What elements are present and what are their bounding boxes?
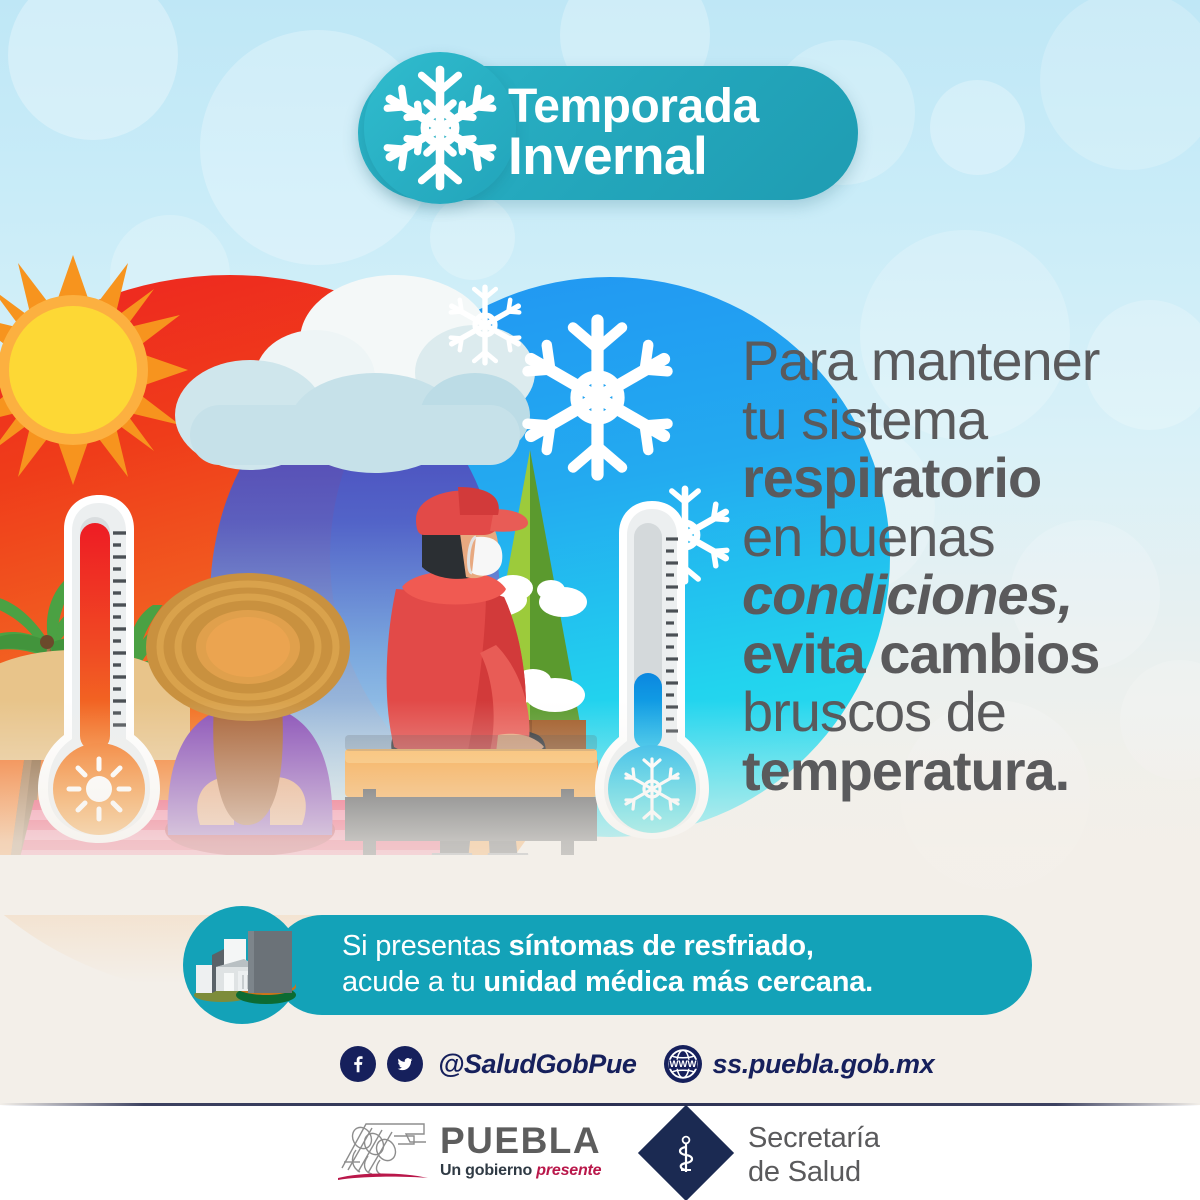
salud-line2: de Salud [748,1155,880,1189]
header-title: Temporada Invernal [508,68,848,198]
social-handle[interactable]: @SaludGobPue [438,1049,637,1080]
banner-line1-bold: síntomas de resfriado, [509,930,814,962]
banner-line2: acude a tu unidad médica más cercana. [342,965,1042,1001]
main-message-line: en buenas [742,508,1182,567]
puebla-wordmark: PUEBLA Un gobierno presente [440,1122,601,1179]
snowflake-icon [374,62,506,194]
puebla-emblem-icon [336,1118,434,1186]
banner-text: Si presentas síntomas de resfriado, acud… [342,924,1042,1006]
main-message-line: tu sistema [742,391,1182,450]
banner-line1-regular: Si presentas [342,930,509,962]
puebla-tagline-accent: presente [536,1162,601,1179]
asclepius-rod-icon [668,1135,704,1175]
social-row: @SaludGobPue WWW ss.puebla.gob.mx [340,1040,880,1088]
main-message-line: temperatura. [742,742,1182,801]
hospital-icon [192,925,296,1007]
main-message-line: condiciones, [742,566,1182,625]
facebook-icon[interactable] [340,1046,376,1082]
salud-logo: Secretaría de Salud [652,1115,902,1191]
www-globe-icon[interactable]: WWW [664,1045,702,1083]
main-message-line: bruscos de [742,683,1182,742]
main-message-line: evita cambios [742,625,1182,684]
header-title-line2: Invernal [508,131,848,183]
header-title-line1: Temporada [508,83,848,131]
main-message: Para mantener tu sistema respiratorio en… [742,332,1182,800]
puebla-tagline: Un gobierno presente [440,1163,601,1179]
salud-line1: Secretaría [748,1121,880,1155]
twitter-icon[interactable] [387,1046,423,1082]
sun-icon [0,255,188,485]
social-website[interactable]: ss.puebla.gob.mx [713,1049,935,1080]
puebla-tagline-plain: Un gobierno [440,1162,536,1179]
banner-line2-regular: acude a tu [342,966,483,998]
svg-text:WWW: WWW [669,1059,696,1070]
poster-root: Temporada Invernal Para mantener tu sist… [0,0,1200,1200]
salud-wordmark: Secretaría de Salud [748,1121,880,1189]
banner-line1: Si presentas síntomas de resfriado, [342,929,1042,965]
main-message-line: Para mantener [742,332,1182,391]
main-message-line: respiratorio [742,449,1182,508]
puebla-logo: PUEBLA Un gobierno presente [336,1118,616,1188]
banner-line2-bold: unidad médica más cercana. [483,966,873,998]
puebla-title: PUEBLA [440,1122,601,1159]
